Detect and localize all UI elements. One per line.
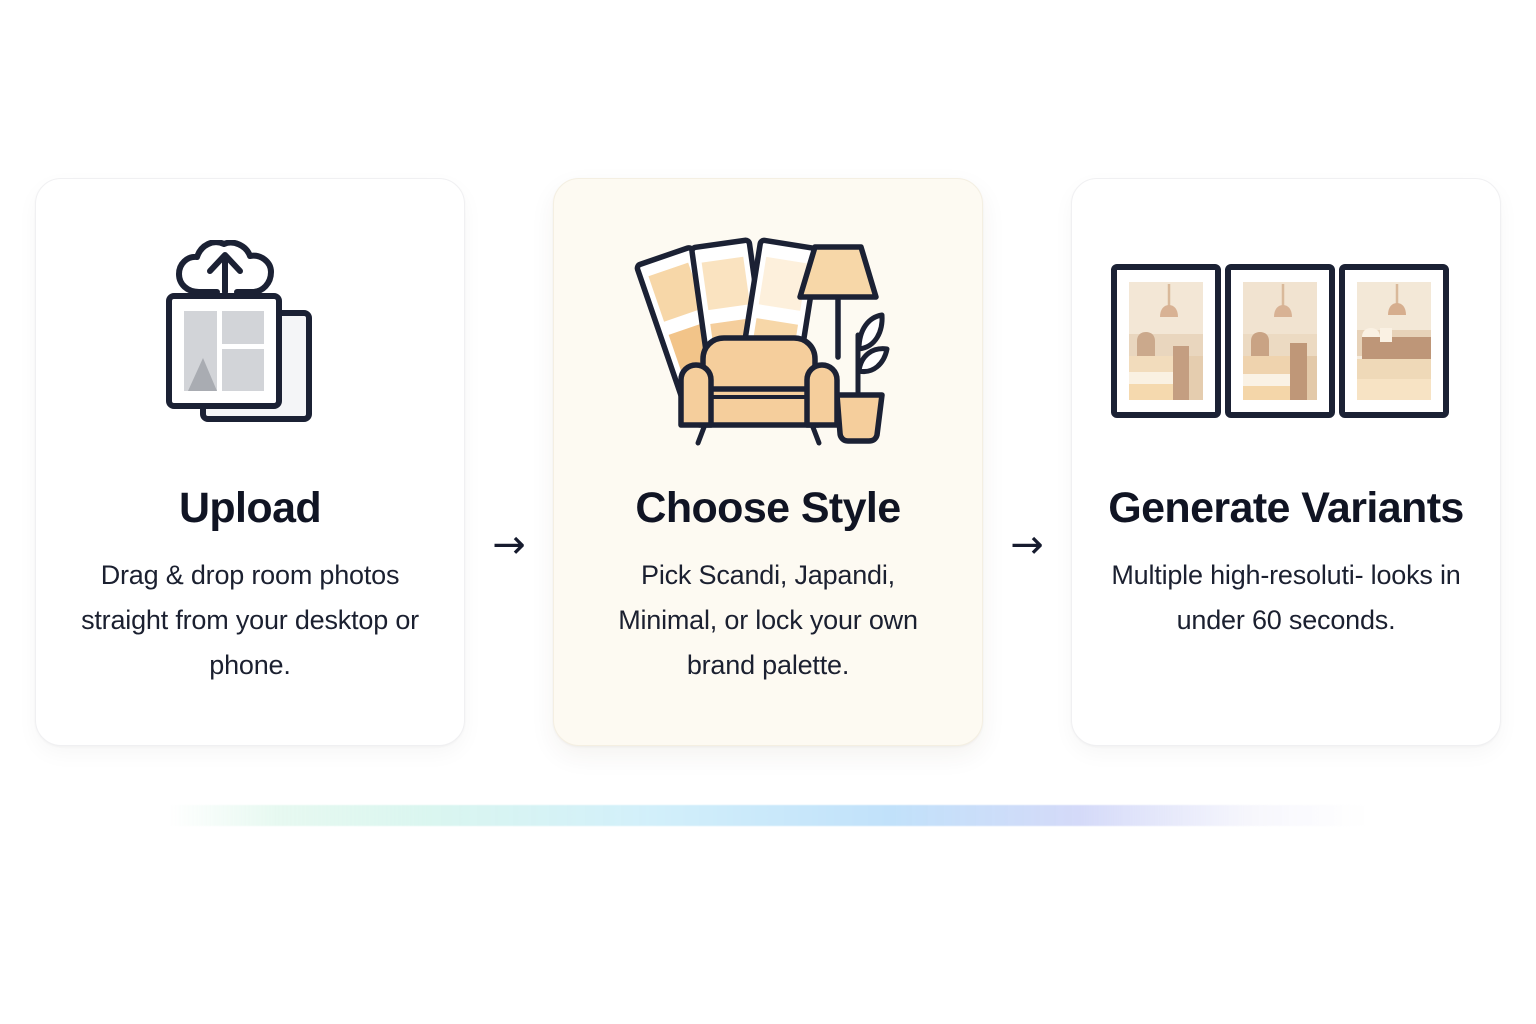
step-description: Drag & drop room photos straight from yo… (75, 553, 425, 688)
cloud-upload-photos-icon (160, 237, 340, 452)
step-card-choose-style[interactable]: Choose Style Pick Scandi, Japandi, Minim… (553, 178, 983, 746)
step-title: Choose Style (635, 484, 900, 533)
bottom-gradient-bar (168, 805, 1368, 826)
step-description: Pick Scandi, Japandi, Minimal, or lock y… (603, 553, 933, 688)
step-title: Upload (179, 484, 321, 533)
steps-row: Upload Drag & drop room photos straight … (0, 178, 1536, 746)
arrow-style-to-generate: → (983, 178, 1071, 746)
arrow-right-icon: → (492, 525, 526, 565)
step-title: Generate Variants (1108, 484, 1464, 533)
arrow-upload-to-style: → (465, 178, 553, 746)
step-card-generate-variants[interactable]: Generate Variants Multiple high-resoluti… (1071, 178, 1501, 746)
steps-stage: Upload Drag & drop room photos straight … (0, 0, 1536, 1024)
three-framed-renders-icon (1110, 237, 1462, 452)
step-card-upload[interactable]: Upload Drag & drop room photos straight … (35, 178, 465, 746)
step-description: Multiple high-resoluti- looks in under 6… (1111, 553, 1461, 643)
arrow-right-icon: → (1010, 525, 1044, 565)
sofa-lamp-swatches-icon (633, 237, 903, 452)
